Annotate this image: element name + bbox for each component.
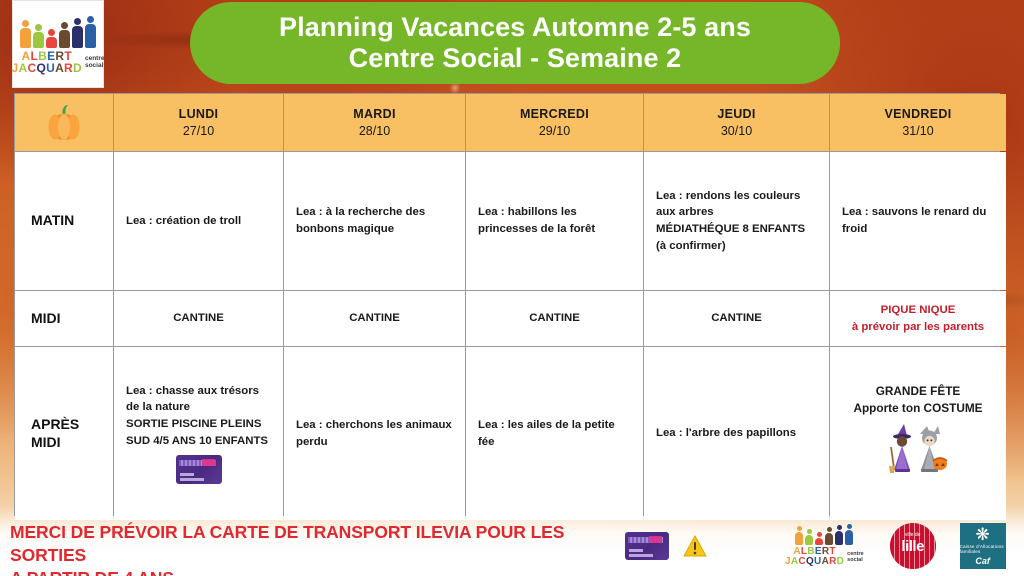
cell-apresmidi-vendredi: GRANDE FÊTE Apporte ton COSTUME <box>830 347 1006 520</box>
ilevia-transport-card-icon <box>625 532 669 560</box>
cell-apresmidi-mercredi: Lea : les ailes de la petite fée <box>466 347 643 520</box>
slide-root: Planning Vacances Automne 2-5 ans Centre… <box>0 0 1024 576</box>
ilevia-transport-card-image <box>176 455 222 484</box>
logo-line-jacquard: JACQUARD <box>12 62 82 74</box>
pumpkin-icon <box>43 103 85 143</box>
cell-apresmidi-mardi: Lea : cherchons les animaux perdu <box>284 347 465 520</box>
cell-apresmidi-lundi: Lea : chasse aux trésors de la nature SO… <box>114 347 283 520</box>
logo-subtitle: centre social <box>85 55 105 70</box>
column-header-lundi: LUNDI 27/10 <box>114 94 283 151</box>
planning-table: LUNDI 27/10 MARDI 28/10 MERCREDI 29/10 J… <box>14 93 1000 516</box>
caf-caption: Caisse d'Allocations familiales <box>960 544 1006 554</box>
cell-midi-mardi: CANTINE <box>284 291 465 346</box>
logo-line-jacquard-footer: JACQUARD <box>785 557 844 567</box>
albert-jacquard-logo: ALBERT JACQUARD centre social <box>12 0 104 88</box>
logo-subtitle-footer: centre social <box>847 551 864 564</box>
ville-de-lille-logo: ville de lille <box>890 523 936 569</box>
column-header-mardi: MARDI 28/10 <box>284 94 465 151</box>
cell-midi-lundi: CANTINE <box>114 291 283 346</box>
footer-notice: MERCI DE PRÉVOIR LA CARTE DE TRANSPORT I… <box>10 521 620 576</box>
row-label-midi: MIDI <box>15 291 113 346</box>
cell-midi-mercredi: CANTINE <box>466 291 643 346</box>
family-figures-icon <box>20 18 96 48</box>
cell-matin-mardi: Lea : à la recherche des bonbons magique <box>284 152 465 290</box>
cell-midi-vendredi: PIQUE NIQUE à prévoir par les parents <box>830 291 1006 346</box>
column-header-mercredi: MERCREDI 29/10 <box>466 94 643 151</box>
row-label-apres-midi: APRÈS MIDI <box>15 347 113 520</box>
caf-wordmark: Caf <box>975 556 990 566</box>
halloween-costumes-icon <box>883 420 953 478</box>
column-header-jeudi: JEUDI 30/10 <box>644 94 829 151</box>
column-header-vendredi: VENDREDI 31/10 <box>830 94 1006 151</box>
lille-wordmark: lille <box>901 538 924 555</box>
warning-triangle-icon <box>683 535 707 557</box>
row-label-matin: MATIN <box>15 152 113 290</box>
albert-jacquard-logo-footer: ALBERT JACQUARD centre social <box>785 525 864 567</box>
cell-matin-jeudi: Lea : rendons les couleurs aux arbres MÉ… <box>644 152 829 290</box>
cell-matin-mercredi: Lea : habillons les princesses de la for… <box>466 152 643 290</box>
cell-midi-jeudi: CANTINE <box>644 291 829 346</box>
family-figures-icon-footer <box>795 525 853 545</box>
cell-matin-vendredi: Lea : sauvons le renard du froid <box>830 152 1006 290</box>
title-banner: Planning Vacances Automne 2-5 ans Centre… <box>190 2 840 84</box>
caf-star-icon: ❋ <box>976 526 990 543</box>
page-title: Planning Vacances Automne 2-5 ans Centre… <box>279 12 751 75</box>
footer-logos: ALBERT JACQUARD centre social ville de l… <box>625 520 1015 572</box>
caf-logo: ❋ Caisse d'Allocations familiales Caf <box>960 523 1006 569</box>
cell-matin-lundi: Lea : création de troll <box>114 152 283 290</box>
cell-apresmidi-jeudi: Lea : l'arbre des papillons <box>644 347 829 520</box>
table-corner-cell <box>15 94 113 151</box>
